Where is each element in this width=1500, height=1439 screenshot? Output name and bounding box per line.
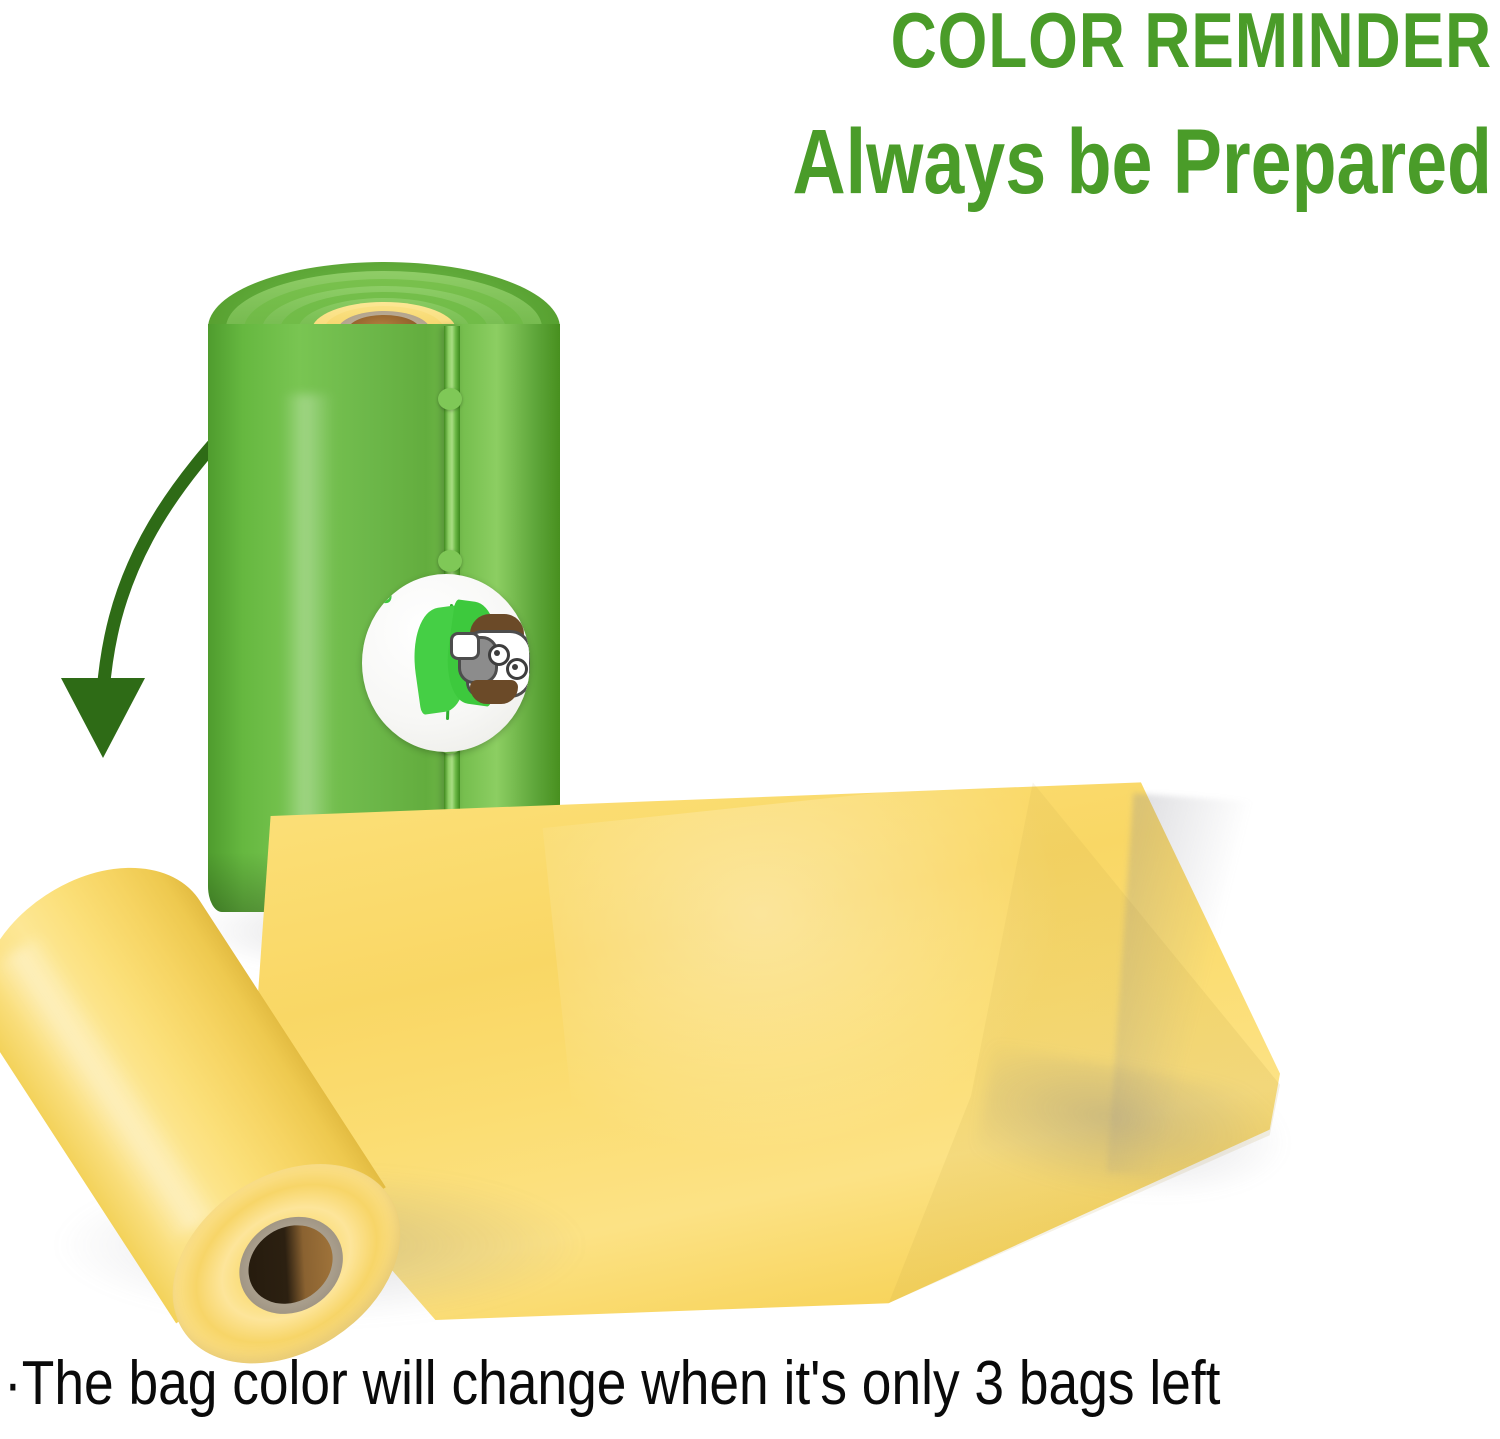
seam-perforation — [438, 550, 462, 572]
seam-perforation — [438, 388, 462, 410]
caption-text: ·The bag color will change when it's onl… — [4, 1351, 1220, 1417]
headline-secondary: Always be Prepared — [756, 110, 1492, 214]
yellow-bag-roll-group — [0, 740, 1500, 1350]
headline-primary: COLOR REMINDER — [738, 0, 1492, 84]
sticker-brand-text: eco-clean — [368, 574, 427, 607]
product-marketing-image: COLOR REMINDER Always be Prepared — [0, 0, 1500, 1439]
headline-block: COLOR REMINDER Always be Prepared — [572, 0, 1492, 214]
eco-clean-sticker: eco-clean — [362, 574, 530, 752]
dog-mascot-icon — [458, 614, 530, 710]
